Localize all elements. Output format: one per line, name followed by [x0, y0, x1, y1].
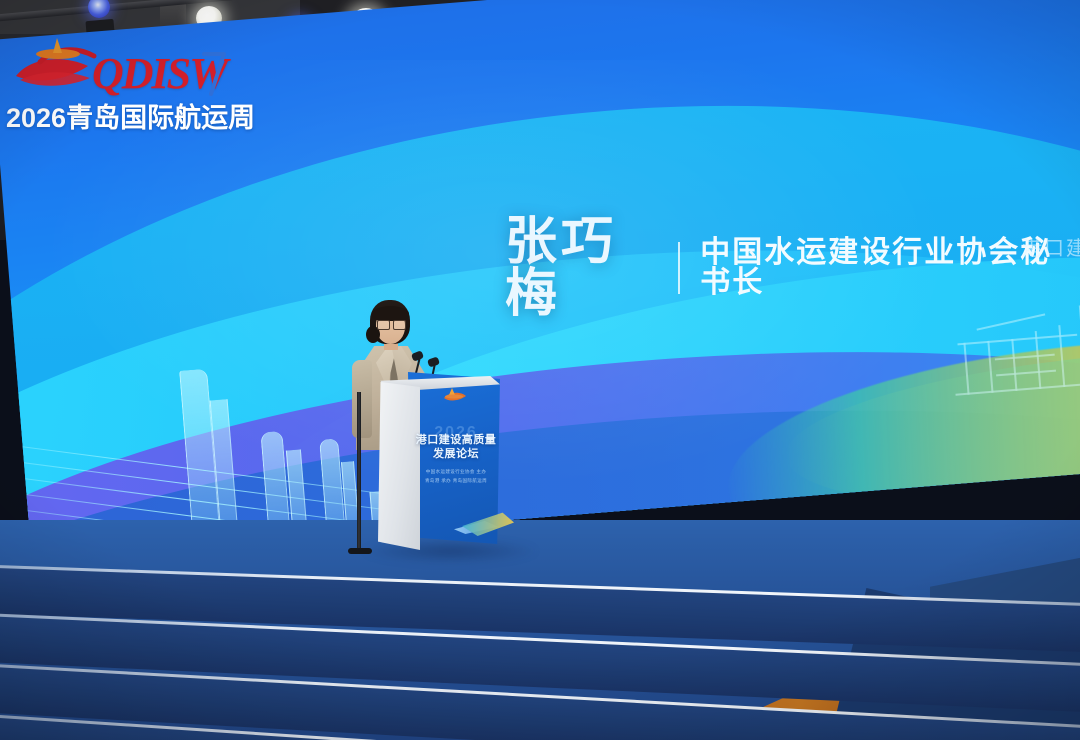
podium: 2026 港口建设高质量 发展论坛 中国水运建设行业协会 主办 青岛港 承办 青…: [370, 372, 500, 552]
mic-stand-base: [348, 548, 372, 554]
speaker-name-banner: 张巧梅 中国水运建设行业协会秘书长: [505, 216, 1080, 320]
podium-emblem-icon: [436, 386, 472, 406]
logo-subtitle: 2026青岛国际航运周: [6, 96, 255, 135]
name-divider: [678, 242, 680, 294]
podium-subtitle: 中国水运建设行业协会 主办 青岛港 承办 青岛国际航运周: [414, 468, 498, 485]
conference-stage-photo: QDISW 2026青岛国际航运周 张巧梅 中国水运建设行业协会秘书长 港口建设: [0, 0, 1080, 740]
event-logo: QDISW 2026青岛国际航运周: [6, 34, 216, 146]
speaker-name: 张巧梅: [505, 216, 658, 320]
port-crane-graphic: [945, 303, 1080, 425]
screen-right-edge-text: 港口建设: [1022, 232, 1080, 261]
podium-title: 港口建设高质量 发展论坛: [412, 434, 500, 462]
mic-stand-pole: [357, 392, 361, 554]
logo-tick-icon: [202, 52, 228, 96]
glasses-icon: [377, 320, 404, 328]
